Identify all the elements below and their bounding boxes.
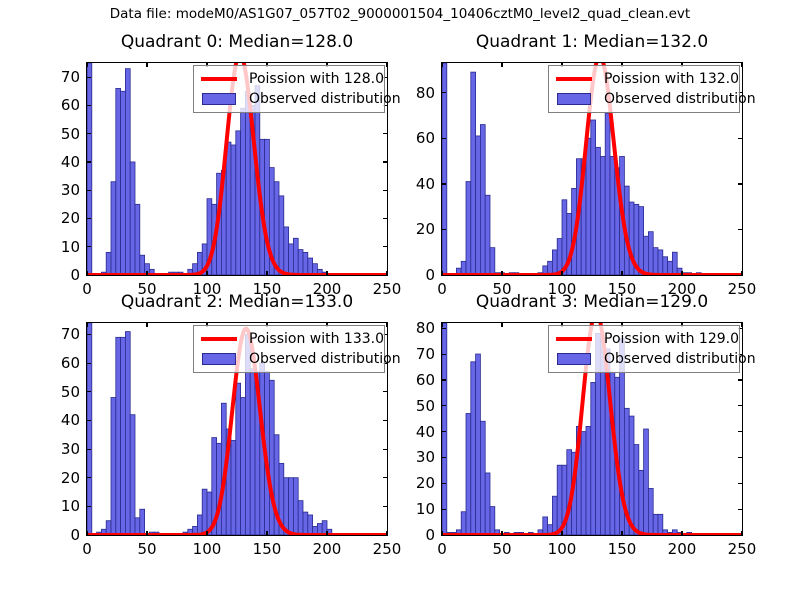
histogram-bar [197, 252, 202, 275]
histogram-bars-1 [442, 63, 701, 275]
histogram-bar [217, 173, 222, 275]
histogram-bar [260, 363, 265, 535]
y-tick-mark [383, 275, 388, 276]
histogram-bars-2 [87, 323, 332, 535]
x-tick-mark [441, 322, 442, 327]
histogram-bar [101, 529, 106, 535]
histogram-bar [605, 349, 610, 535]
y-tick-mark [86, 477, 91, 478]
y-tick-mark [86, 77, 91, 78]
histogram-bar [169, 272, 174, 275]
y-tick-mark [383, 449, 388, 450]
histogram-bar [212, 438, 217, 535]
y-tick-label: 40 [28, 153, 80, 171]
histogram-bar [639, 207, 644, 275]
y-tick-mark [441, 183, 446, 184]
histogram-bar [212, 204, 217, 275]
y-tick-mark [86, 334, 91, 335]
y-tick-mark [738, 275, 743, 276]
histogram-bar [327, 529, 332, 535]
histogram-bar [620, 339, 625, 535]
histogram-bar [476, 136, 481, 275]
x-tick-mark [326, 322, 327, 327]
histogram-bar [615, 168, 620, 275]
histogram-bar [293, 238, 298, 275]
histogram-bar [653, 248, 658, 275]
histogram-bar [610, 156, 615, 275]
histogram-bar [236, 383, 241, 535]
x-tick-mark [741, 531, 742, 536]
histogram-bar [567, 213, 572, 275]
histogram-bar [202, 489, 207, 535]
y-tick-mark [86, 190, 91, 191]
y-tick-mark [86, 218, 91, 219]
histogram-bar [538, 530, 543, 535]
histogram-bar [226, 142, 231, 275]
y-tick-mark [383, 105, 388, 106]
legend-patch-swatch [199, 90, 239, 108]
y-tick-mark [738, 457, 743, 458]
y-tick-mark [383, 391, 388, 392]
y-tick-mark [738, 138, 743, 139]
histogram-bar [610, 372, 615, 535]
plot-area-2 [86, 322, 388, 536]
x-tick-mark [386, 322, 387, 327]
x-tick-label: 0 [82, 280, 92, 298]
histogram-bar [317, 524, 322, 535]
y-tick-mark [383, 218, 388, 219]
legend-label-observed: Observed distribution [594, 91, 756, 107]
y-tick-label: 0 [28, 526, 80, 544]
histogram-bar [668, 261, 673, 275]
histogram-bar [576, 426, 581, 535]
y-tick-label: 20 [383, 220, 435, 238]
histogram-bar [620, 156, 625, 275]
histogram-bar [313, 264, 318, 275]
legend-entry-poisson: Poission with 133.0 [199, 329, 379, 349]
histogram-bar [591, 382, 596, 535]
x-tick-mark [146, 531, 147, 536]
x-tick-label: 0 [437, 540, 447, 558]
x-tick-label: 250 [373, 540, 402, 558]
x-tick-mark [681, 322, 682, 327]
x-tick-mark [266, 322, 267, 327]
x-tick-mark [326, 62, 327, 67]
x-tick-label: 100 [548, 280, 577, 298]
y-tick-mark [86, 535, 91, 536]
histogram-bar [471, 362, 476, 535]
histogram-bar [552, 250, 557, 275]
histogram-bar [308, 515, 313, 535]
histogram-bar [552, 496, 557, 535]
x-tick-label: 100 [193, 540, 222, 558]
histogram-bar [226, 429, 231, 535]
x-tick-label: 0 [437, 280, 447, 298]
y-tick-mark [738, 183, 743, 184]
y-tick-label: 40 [28, 411, 80, 429]
y-tick-mark [738, 229, 743, 230]
histogram-bar [135, 204, 140, 275]
x-tick-label: 50 [137, 280, 156, 298]
legend-entry-observed: Observed distribution [199, 349, 379, 369]
histogram-canvas-1 [442, 63, 742, 275]
histogram-bar [279, 196, 284, 275]
histogram-canvas-0 [87, 63, 387, 275]
histogram-bar [600, 339, 605, 535]
y-tick-mark [441, 431, 446, 432]
legend-2: Poission with 133.0Observed distribution [193, 325, 385, 373]
x-tick-mark [266, 271, 267, 276]
x-tick-label: 50 [492, 280, 511, 298]
histogram-bar [279, 463, 284, 535]
legend-line-swatch [199, 330, 239, 348]
histogram-bar [265, 372, 270, 535]
histogram-bar [476, 354, 481, 535]
y-tick-mark [441, 535, 446, 536]
poisson-line-icon [201, 337, 237, 341]
histogram-bar [557, 465, 562, 535]
histogram-bar [485, 195, 490, 275]
x-tick-mark [86, 271, 87, 276]
histogram-bar [274, 182, 279, 275]
histogram-bar [519, 532, 524, 535]
histogram-bar [562, 200, 567, 275]
legend-1: Poission with 132.0Observed distribution [548, 65, 740, 113]
histogram-bar [644, 429, 649, 535]
histogram-canvas-3 [442, 323, 742, 535]
subplot-title-1: Quadrant 1: Median=132.0 [401, 32, 783, 52]
x-tick-mark [741, 62, 742, 67]
histogram-bar [456, 268, 461, 275]
x-tick-label: 200 [313, 280, 342, 298]
y-tick-label: 60 [28, 96, 80, 114]
x-tick-mark [741, 322, 742, 327]
legend-3: Poission with 129.0Observed distribution [548, 325, 740, 373]
histogram-bar [265, 139, 270, 275]
histogram-bar [188, 269, 193, 275]
histogram-bar [663, 530, 668, 535]
x-tick-label: 250 [728, 280, 757, 298]
histogram-bar [596, 147, 601, 275]
histogram-bar [480, 421, 485, 535]
y-tick-label: 20 [28, 209, 80, 227]
histogram-bar [624, 186, 629, 275]
histogram-bar [145, 264, 150, 275]
histogram-bars-0 [87, 63, 327, 275]
y-tick-mark [441, 275, 446, 276]
histogram-bar [308, 258, 313, 275]
histogram-bar [130, 415, 135, 535]
histogram-bar [663, 257, 668, 275]
y-tick-mark [441, 328, 446, 329]
poisson-curve-1 [442, 63, 742, 275]
x-tick-mark [146, 322, 147, 327]
histogram-bar [581, 159, 586, 275]
y-tick-mark [738, 483, 743, 484]
histogram-bar [106, 252, 111, 275]
histogram-bar [572, 188, 577, 275]
histogram-bar [284, 478, 289, 535]
histogram-bar [130, 162, 135, 275]
histogram-bar [514, 532, 519, 535]
subplot-quadrant-3: Quadrant 3: Median=129.00102030405060708… [0, 0, 800, 600]
histogram-bar [183, 532, 188, 535]
histogram-bar [284, 227, 289, 275]
histogram-bar [125, 332, 130, 535]
plot-area-3 [441, 322, 743, 536]
histogram-bar [452, 532, 457, 535]
x-tick-mark [386, 531, 387, 536]
histogram-bar [596, 333, 601, 535]
histogram-bar [231, 440, 236, 535]
histogram-bar [485, 473, 490, 535]
y-tick-mark [383, 420, 388, 421]
histogram-bar [313, 526, 318, 535]
y-tick-mark [383, 77, 388, 78]
histogram-bar [269, 380, 274, 535]
x-tick-mark [561, 531, 562, 536]
x-tick-mark [86, 322, 87, 327]
histogram-bar [586, 426, 591, 535]
histogram-bar [274, 435, 279, 535]
histogram-bar [207, 199, 212, 275]
histogram-bar [111, 397, 116, 535]
x-tick-mark [621, 531, 622, 536]
y-tick-label: 20 [28, 469, 80, 487]
histogram-bar [605, 113, 610, 275]
histogram-bar [644, 236, 649, 275]
poisson-line-icon [201, 77, 237, 81]
legend-0: Poission with 128.0Observed distribution [193, 65, 385, 113]
subplot-title-0: Quadrant 0: Median=128.0 [46, 32, 428, 52]
poisson-curve-2 [87, 329, 387, 535]
histogram-bar [202, 244, 207, 275]
histogram-bar [121, 337, 126, 535]
x-tick-mark [206, 271, 207, 276]
histogram-bar [696, 273, 701, 275]
histogram-bar [672, 530, 677, 535]
y-tick-mark [86, 275, 91, 276]
y-tick-mark [441, 457, 446, 458]
histogram-bar [197, 515, 202, 535]
observed-bar-icon [557, 353, 591, 365]
observed-bar-icon [557, 93, 591, 105]
histogram-bar [629, 202, 634, 275]
histogram-bar [562, 465, 567, 535]
y-tick-mark [86, 363, 91, 364]
histogram-bar [140, 509, 145, 535]
histogram-bar [255, 372, 260, 535]
x-tick-mark [621, 271, 622, 276]
histogram-bar [217, 443, 222, 535]
subplot-quadrant-2: Quadrant 2: Median=133.00102030405060700… [0, 0, 800, 600]
histogram-bar [125, 69, 130, 275]
x-tick-mark [206, 62, 207, 67]
legend-line-swatch [554, 70, 594, 88]
legend-line-swatch [554, 330, 594, 348]
histogram-bar [236, 131, 241, 275]
y-tick-mark [383, 363, 388, 364]
histogram-bar [140, 255, 145, 275]
x-tick-mark [266, 531, 267, 536]
y-tick-mark [441, 138, 446, 139]
y-tick-label: 10 [28, 238, 80, 256]
histogram-bar [567, 450, 572, 535]
x-tick-mark [146, 62, 147, 67]
x-tick-label: 150 [608, 540, 637, 558]
x-tick-mark [501, 271, 502, 276]
histogram-bar [471, 72, 476, 275]
histogram-bar [509, 273, 514, 275]
histogram-bar [514, 273, 519, 275]
observed-bar-icon [202, 93, 236, 105]
histogram-bar [572, 452, 577, 535]
histogram-bar [298, 250, 303, 275]
histogram-canvas-2 [87, 323, 387, 535]
y-tick-mark [441, 379, 446, 380]
y-tick-mark [738, 354, 743, 355]
histogram-bar [658, 250, 663, 275]
histogram-bar [466, 413, 471, 535]
y-tick-mark [738, 535, 743, 536]
histogram-bar [586, 138, 591, 275]
histogram-bar [557, 239, 562, 275]
y-tick-mark [383, 246, 388, 247]
legend-label-poisson: Poission with 129.0 [594, 331, 739, 347]
x-tick-label: 200 [668, 540, 697, 558]
x-tick-mark [621, 62, 622, 67]
x-tick-mark [621, 322, 622, 327]
histogram-bar [178, 272, 183, 275]
y-tick-mark [383, 477, 388, 478]
y-tick-mark [86, 246, 91, 247]
y-tick-mark [738, 405, 743, 406]
y-tick-label: 50 [383, 397, 435, 415]
x-tick-mark [681, 531, 682, 536]
histogram-bar [687, 273, 692, 275]
y-tick-mark [441, 229, 446, 230]
legend-entry-poisson: Poission with 128.0 [199, 69, 379, 89]
y-tick-mark [441, 405, 446, 406]
y-tick-mark [383, 334, 388, 335]
x-tick-mark [561, 62, 562, 67]
histogram-bar [193, 526, 198, 535]
histogram-bar [87, 63, 92, 275]
legend-label-poisson: Poission with 132.0 [594, 71, 739, 87]
legend-label-observed: Observed distribution [239, 91, 401, 107]
histogram-bar [106, 521, 111, 535]
histogram-bar [447, 532, 452, 535]
histogram-bar [543, 517, 548, 535]
histogram-bar [245, 334, 250, 535]
histogram-bar [173, 272, 178, 275]
histogram-bar [250, 369, 255, 535]
histogram-bar [255, 86, 260, 275]
x-tick-mark [386, 271, 387, 276]
legend-entry-observed: Observed distribution [554, 89, 734, 109]
histogram-bars-3 [442, 323, 692, 535]
y-tick-mark [738, 379, 743, 380]
histogram-bar [639, 470, 644, 535]
x-tick-mark [561, 322, 562, 327]
histogram-bar [298, 501, 303, 535]
histogram-bar [456, 530, 461, 535]
x-tick-label: 150 [608, 280, 637, 298]
y-tick-label: 50 [28, 383, 80, 401]
histogram-bar [466, 182, 471, 275]
x-tick-mark [501, 62, 502, 67]
x-tick-mark [266, 62, 267, 67]
poisson-curve-0 [87, 63, 387, 275]
x-tick-mark [681, 271, 682, 276]
histogram-bar [624, 408, 629, 535]
histogram-bar [677, 268, 682, 275]
histogram-bar [687, 532, 692, 535]
histogram-bar [188, 529, 193, 535]
histogram-bar [480, 125, 485, 275]
histogram-bar [121, 91, 126, 275]
x-tick-label: 250 [373, 280, 402, 298]
y-tick-mark [738, 431, 743, 432]
y-tick-label: 60 [383, 129, 435, 147]
x-tick-mark [681, 62, 682, 67]
histogram-bar [221, 170, 226, 275]
legend-entry-observed: Observed distribution [554, 349, 734, 369]
x-tick-mark [741, 271, 742, 276]
y-tick-label: 0 [28, 266, 80, 284]
y-tick-mark [86, 391, 91, 392]
subplot-title-3: Quadrant 3: Median=129.0 [401, 292, 783, 312]
y-tick-label: 80 [383, 319, 435, 337]
legend-entry-poisson: Poission with 129.0 [554, 329, 734, 349]
y-tick-label: 0 [383, 526, 435, 544]
histogram-bar [322, 272, 327, 275]
y-tick-mark [383, 161, 388, 162]
y-tick-mark [441, 509, 446, 510]
histogram-bar [528, 532, 533, 535]
histogram-bar [116, 337, 121, 535]
y-tick-label: 60 [383, 371, 435, 389]
histogram-bar [495, 530, 500, 535]
histogram-bar [101, 272, 106, 275]
y-tick-label: 80 [383, 84, 435, 102]
x-tick-label: 200 [313, 540, 342, 558]
y-tick-mark [86, 105, 91, 106]
legend-entry-poisson: Poission with 132.0 [554, 69, 734, 89]
x-tick-label: 50 [137, 540, 156, 558]
x-tick-mark [326, 531, 327, 536]
histogram-bar [576, 159, 581, 275]
y-tick-mark [86, 161, 91, 162]
x-tick-label: 150 [253, 280, 282, 298]
histogram-bar [495, 273, 500, 275]
y-tick-mark [441, 92, 446, 93]
histogram-bar [504, 532, 509, 535]
y-tick-mark [86, 506, 91, 507]
y-tick-label: 50 [28, 125, 80, 143]
x-tick-mark [206, 322, 207, 327]
histogram-bar [193, 264, 198, 275]
x-tick-label: 250 [728, 540, 757, 558]
x-tick-label: 100 [548, 540, 577, 558]
histogram-bar [231, 145, 236, 275]
histogram-bar [241, 108, 246, 275]
y-tick-label: 30 [383, 448, 435, 466]
legend-label-observed: Observed distribution [239, 351, 401, 367]
histogram-bar [461, 261, 466, 275]
figure-suptitle: Data file: modeM0/AS1G07_057T02_90000015… [0, 6, 800, 22]
histogram-bar [600, 156, 605, 275]
